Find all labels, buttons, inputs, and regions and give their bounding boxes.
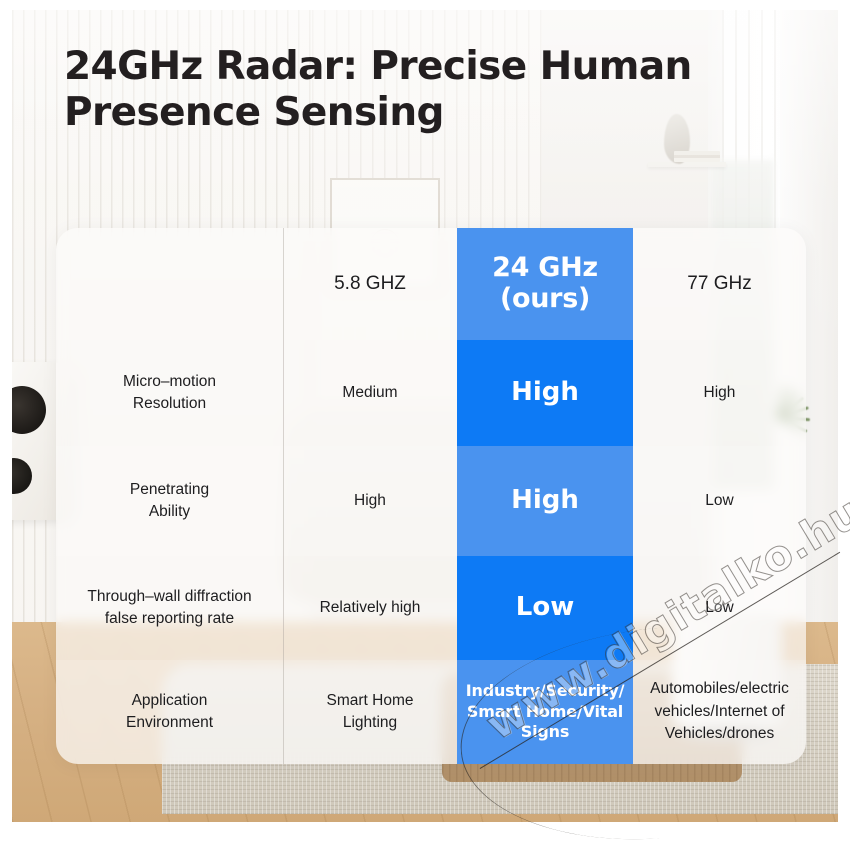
- cell-24ghz-application: Industry/Security/ Smart Home/Vital Sign…: [457, 660, 633, 764]
- row-label-penetrating-ability: Penetrating Ability: [56, 446, 283, 556]
- cell-24ghz-through-wall: Low: [457, 556, 633, 660]
- cell-24ghz-penetrating: High: [457, 446, 633, 556]
- speaker-cone-lower: [12, 458, 32, 494]
- column-header-5-8ghz: 5.8 GHZ: [283, 228, 457, 340]
- cell-77ghz-micro-motion: High: [633, 340, 806, 446]
- cell-5-8ghz-through-wall: Relatively high: [283, 556, 457, 660]
- table-corner-cell: [56, 228, 283, 340]
- row-label-through-wall-diffraction: Through–wall diffraction false reporting…: [56, 556, 283, 660]
- cell-5-8ghz-penetrating: High: [283, 446, 457, 556]
- comparison-table-panel: 5.8 GHZ 24 GHz (ours) 77 GHz Micro–motio…: [56, 228, 806, 764]
- row-label-application-environment: Application Environment: [56, 660, 283, 764]
- books-decor: [674, 151, 720, 162]
- row-label-micro-motion-resolution: Micro–motion Resolution: [56, 340, 283, 446]
- wall-shelf: [648, 162, 726, 167]
- page-title: 24GHz Radar: Precise Human Presence Sens…: [64, 44, 724, 136]
- cell-77ghz-application: Automobiles/electric vehicles/Internet o…: [633, 660, 806, 764]
- cell-5-8ghz-micro-motion: Medium: [283, 340, 457, 446]
- cell-24ghz-micro-motion: High: [457, 340, 633, 446]
- column-header-77ghz: 77 GHz: [633, 228, 806, 340]
- column-header-24ghz: 24 GHz (ours): [457, 228, 633, 340]
- infographic-root: 24GHz Radar: Precise Human Presence Sens…: [0, 0, 850, 850]
- cell-77ghz-through-wall: Low: [633, 556, 806, 660]
- cell-77ghz-penetrating: Low: [633, 446, 806, 556]
- cell-5-8ghz-application: Smart Home Lighting: [283, 660, 457, 764]
- speaker-cone-upper: [12, 386, 46, 434]
